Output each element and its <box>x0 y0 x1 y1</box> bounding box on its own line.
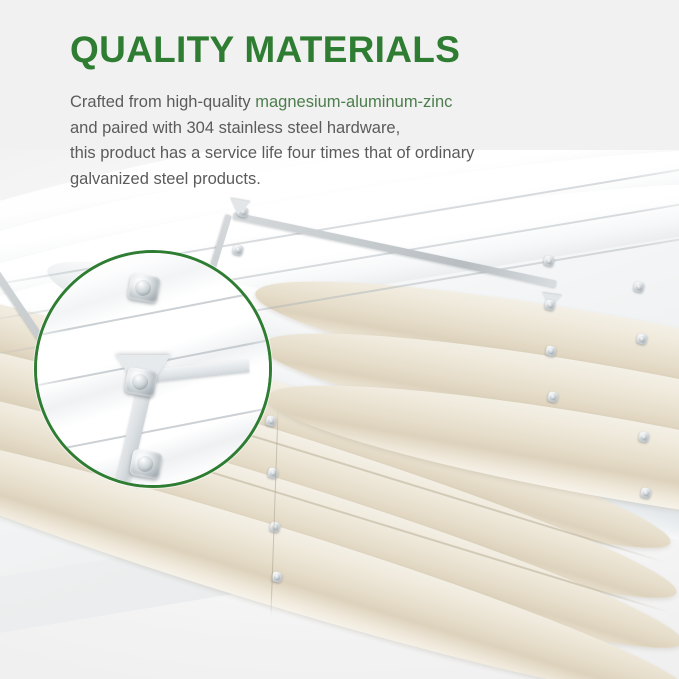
body-line-2: and paired with 304 stainless steel hard… <box>70 116 630 142</box>
body-line-1: Crafted from high-quality magnesium-alum… <box>70 90 630 116</box>
product-marketing-image: QUALITY MATERIALS Crafted from high-qual… <box>0 0 679 679</box>
callout-bolt-icon-top <box>127 273 161 304</box>
text-block: QUALITY MATERIALS Crafted from high-qual… <box>70 28 630 192</box>
page-title: QUALITY MATERIALS <box>70 28 630 72</box>
body-line-3: this product has a service life four tim… <box>70 141 630 167</box>
callout-bolt-icon-middle <box>124 367 158 398</box>
hardware-detail-callout <box>34 250 272 488</box>
body-copy: Crafted from high-quality magnesium-alum… <box>70 90 630 192</box>
material-highlight: magnesium-aluminum-zinc <box>255 93 452 111</box>
callout-bolt-icon-bottom <box>129 449 163 480</box>
body-line-1-text: Crafted from high-quality <box>70 93 255 111</box>
body-line-4: galvanized steel products. <box>70 167 630 193</box>
